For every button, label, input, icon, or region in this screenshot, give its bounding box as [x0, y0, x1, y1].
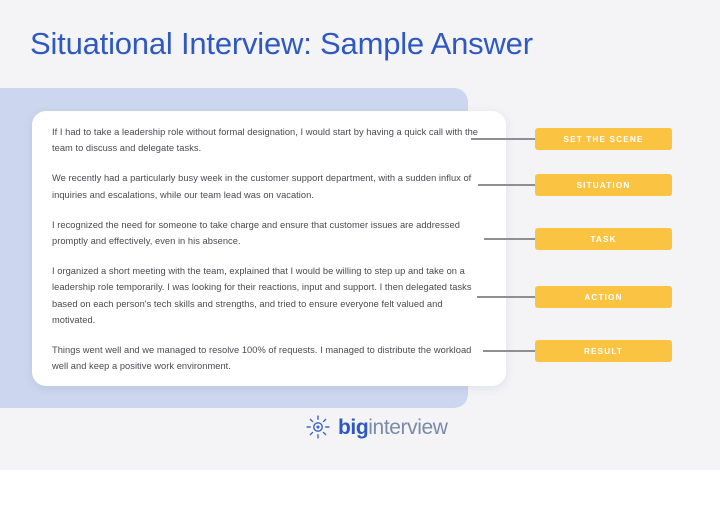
brand-wordmark: biginterview [338, 417, 448, 438]
page-title: Situational Interview: Sample Answer [30, 26, 533, 62]
connector-line-result [483, 350, 535, 352]
sun-icon [305, 414, 331, 440]
connector-line-situation [478, 184, 535, 186]
answer-paragraph-set-the-scene: If I had to take a leadership role witho… [52, 124, 482, 156]
badge-result[interactable]: RESULT [535, 340, 672, 362]
brand-name-big: big [338, 416, 368, 439]
answer-paragraph-action: I organized a short meeting with the tea… [52, 263, 482, 328]
answer-paragraph-task: I recognized the need for someone to tak… [52, 217, 482, 249]
brand-name-interview: interview [368, 416, 447, 439]
slide-canvas: Situational Interview: Sample Answer If … [0, 0, 720, 507]
badge-set-the-scene[interactable]: SET THE SCENE [535, 128, 672, 150]
connector-line-set-the-scene [471, 138, 535, 140]
connector-line-action [477, 296, 535, 298]
badge-task[interactable]: TASK [535, 228, 672, 250]
brand-logo: biginterview [305, 414, 448, 440]
badge-action[interactable]: ACTION [535, 286, 672, 308]
connector-line-task [484, 238, 535, 240]
badge-situation[interactable]: SITUATION [535, 174, 672, 196]
answer-paragraph-result: Things went well and we managed to resol… [52, 342, 482, 374]
answer-text-block: If I had to take a leadership role witho… [52, 124, 482, 374]
answer-paragraph-situation: We recently had a particularly busy week… [52, 170, 482, 202]
